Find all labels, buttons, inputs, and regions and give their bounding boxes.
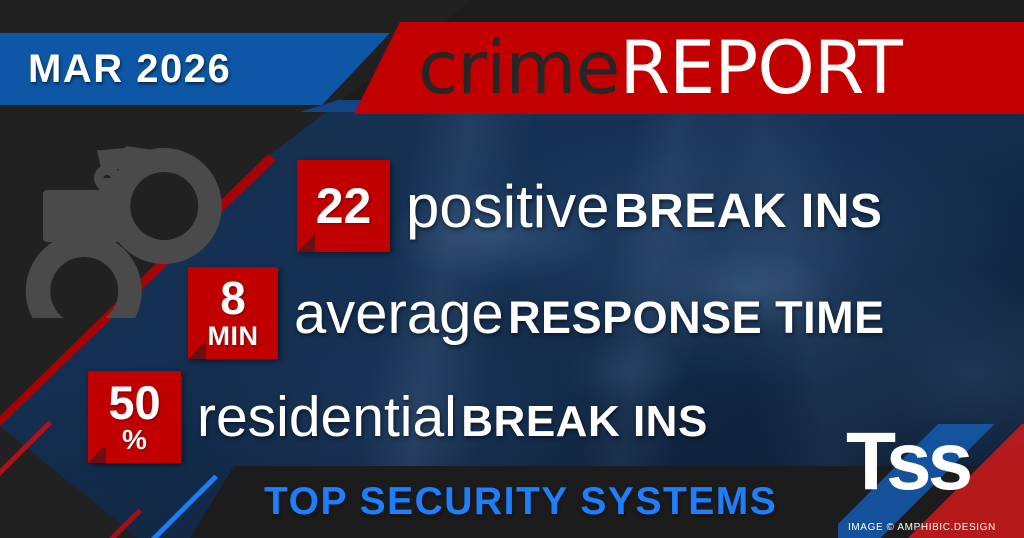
stat-label-bold-3: BREAK INS <box>461 397 708 446</box>
stat-label-2: average RESPONSE TIME <box>294 280 885 347</box>
stat-badge-2: 8 MIN <box>188 267 278 359</box>
stat-label-3: residential BREAK INS <box>197 384 708 450</box>
stat-badge-3: 50 % <box>88 371 181 463</box>
stat-label-light-3: residential <box>197 385 457 449</box>
title-report: REPORT <box>619 32 901 105</box>
crime-report-poster: MAR 2026 crime REPORT 22 positive BREAK … <box>0 0 1024 538</box>
stat-label-1: positive BREAK INS <box>406 172 882 241</box>
tss-logo-clip: Tss <box>838 424 1024 538</box>
footer-tagline: TOP SECURITY SYSTEMS <box>264 480 777 524</box>
image-credit: IMAGE © AMPHIBIC.DESIGN <box>848 522 996 533</box>
stat-unit-2: MIN <box>208 323 259 350</box>
stat-row-1: 22 positive BREAK INS <box>297 160 882 252</box>
title-crime: crime <box>418 32 619 105</box>
stat-value-3: 50 <box>108 380 160 425</box>
stat-label-light-1: positive <box>406 173 609 240</box>
stat-unit-3: % <box>122 426 147 454</box>
stat-row-2: 8 MIN average RESPONSE TIME <box>188 267 885 359</box>
stat-label-bold-2: RESPONSE TIME <box>508 292 885 343</box>
tss-logo-text: Tss <box>846 424 969 499</box>
stat-label-bold-1: BREAK INS <box>614 185 883 238</box>
stat-badge-1: 22 <box>297 160 390 252</box>
stat-value-2: 8 <box>220 276 246 320</box>
stat-row-3: 50 % residential BREAK INS <box>88 371 708 463</box>
stat-value-1: 22 <box>316 182 372 230</box>
date-tag-label: MAR 2026 <box>28 47 231 92</box>
stat-label-light-2: average <box>294 281 504 346</box>
header-red-band: crime REPORT <box>330 22 1024 114</box>
tss-logo: Tss IMAGE © AMPHIBIC.DESIGN <box>838 424 1024 538</box>
date-tag: MAR 2026 <box>0 33 390 105</box>
